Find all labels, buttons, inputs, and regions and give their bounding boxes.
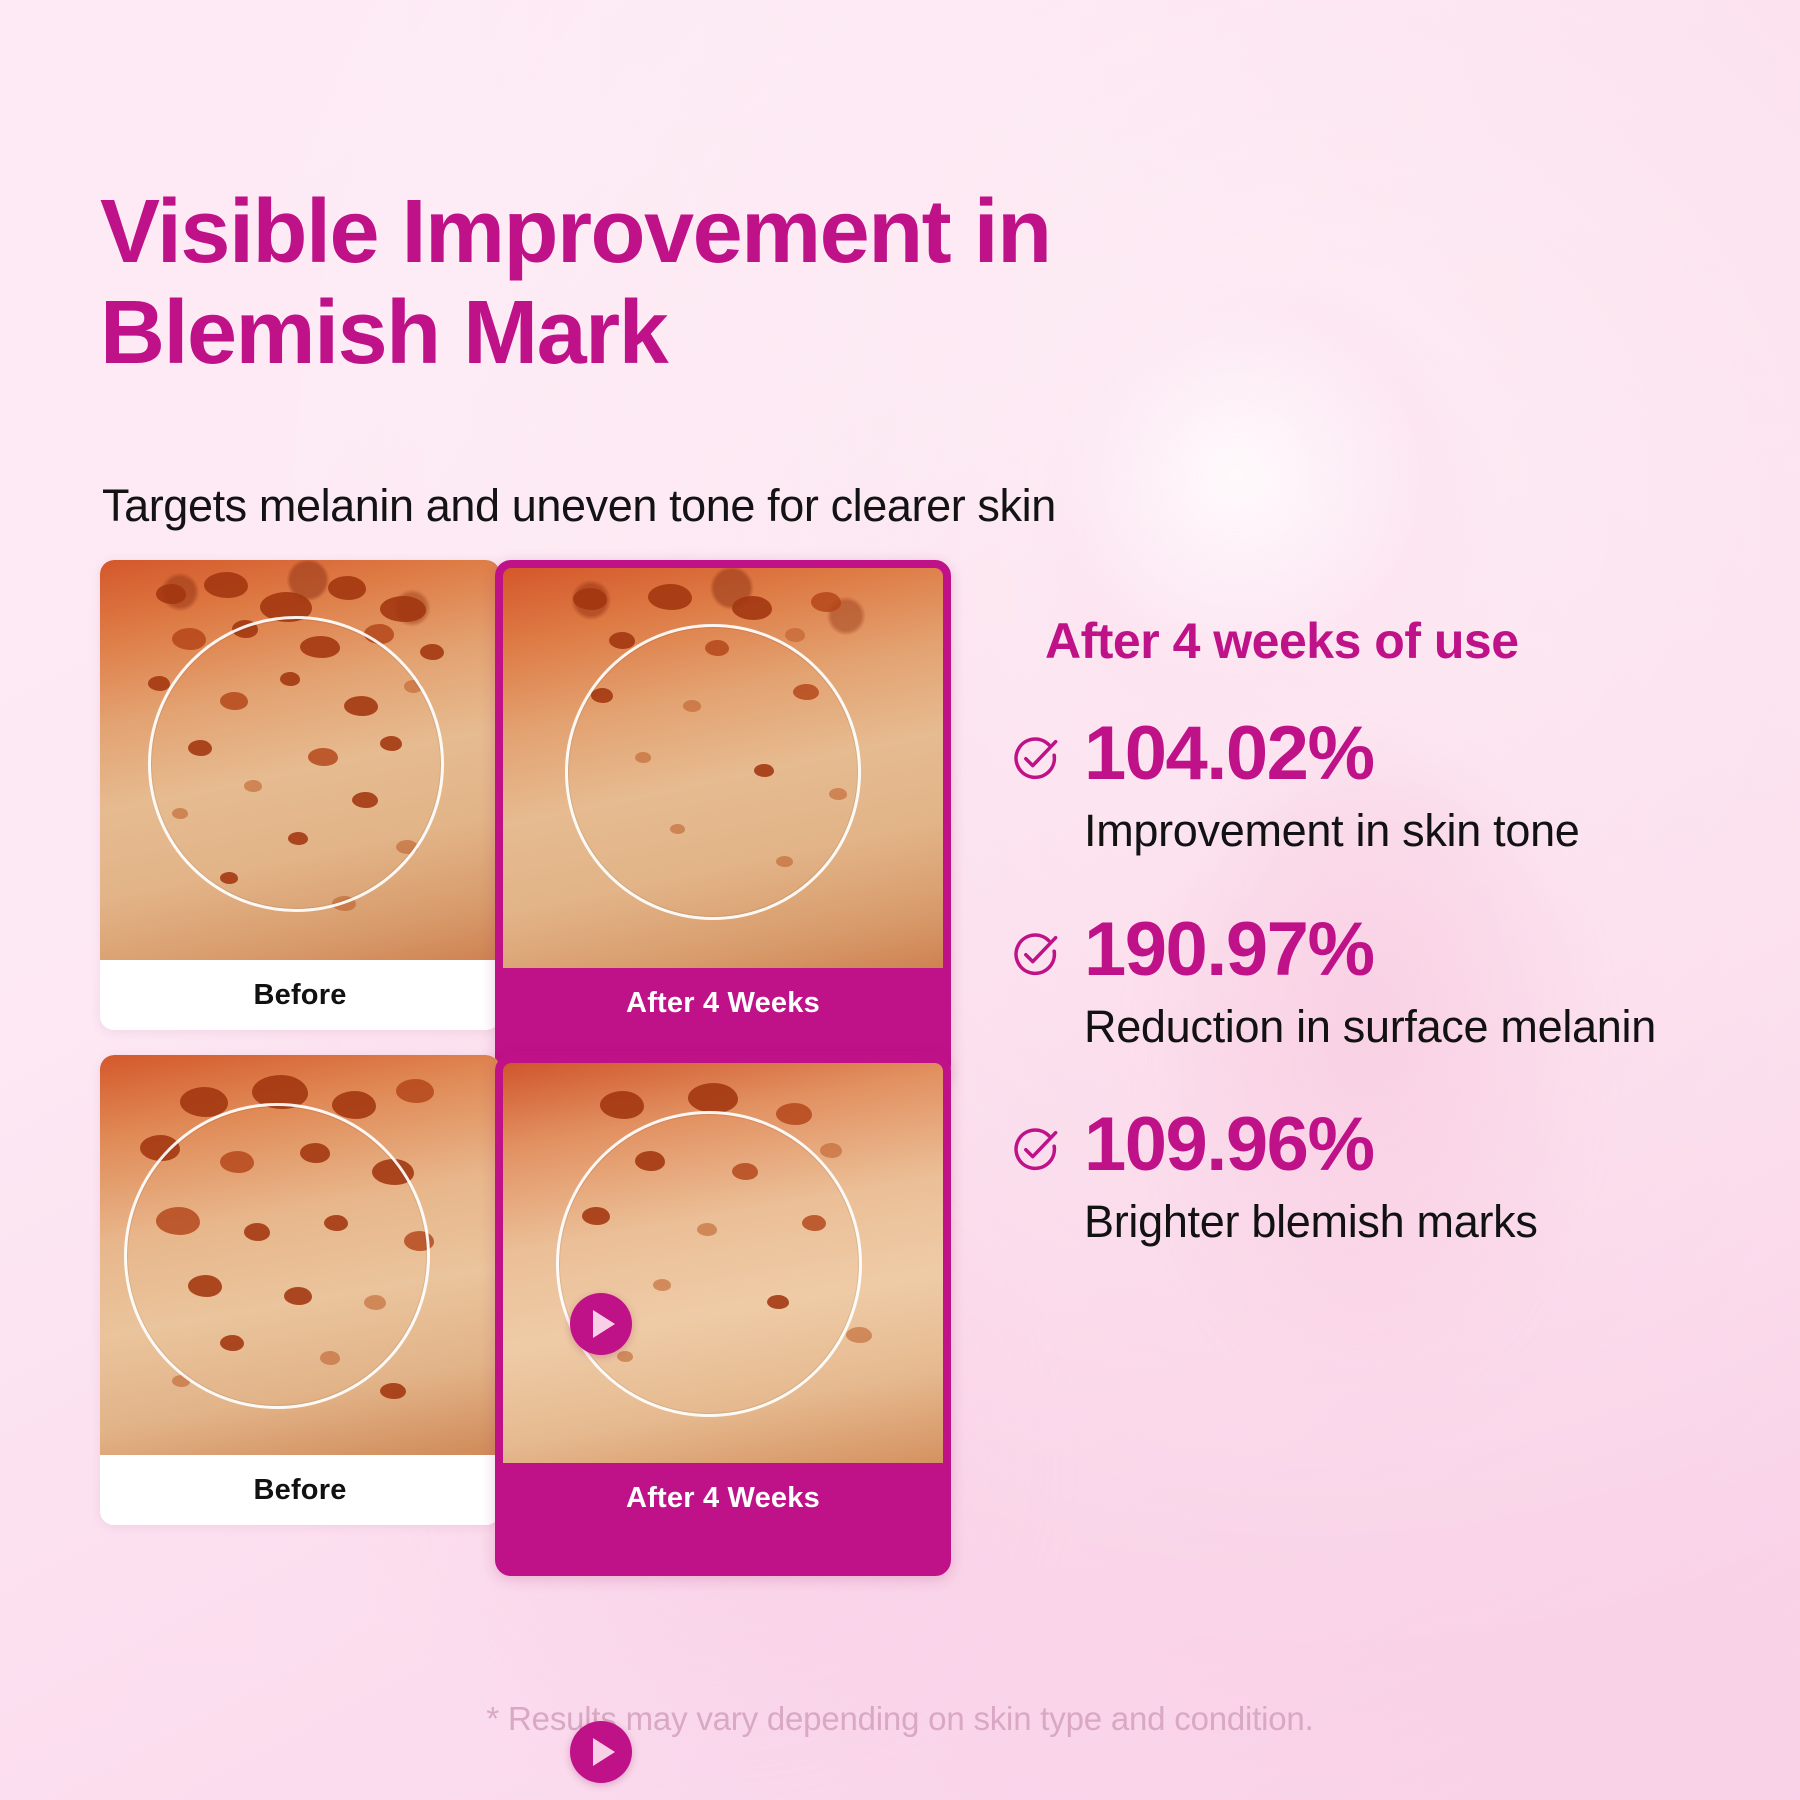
check-circle-icon — [1010, 1125, 1060, 1175]
stat-description: Improvement in skin tone — [1084, 802, 1710, 860]
disclaimer-text: * Results may vary depending on skin typ… — [0, 1700, 1800, 1738]
after-card-2: After 4 Weeks — [495, 1055, 951, 1576]
stat-item: 104.02% Improvement in skin tone — [1010, 716, 1710, 860]
check-circle-icon — [1010, 734, 1060, 784]
results-title: After 4 weeks of use — [1045, 612, 1710, 670]
magnifier-circle — [124, 1103, 430, 1409]
after-label-2: After 4 Weeks — [503, 1463, 943, 1533]
page-title: Visible Improvement in Blemish Mark — [100, 182, 1350, 384]
before-label-2: Before — [100, 1455, 500, 1525]
before-photo-2 — [100, 1055, 500, 1455]
before-card-2: Before — [100, 1055, 500, 1525]
play-arrow-icon — [570, 1721, 632, 1783]
check-circle-icon — [1010, 930, 1060, 980]
before-card-1: Before — [100, 560, 500, 1030]
stat-description: Reduction in surface melanin — [1084, 998, 1710, 1056]
results-panel: After 4 weeks of use 104.02% Improvement… — [1010, 612, 1710, 1251]
stat-value: 190.97% — [1084, 912, 1710, 988]
comparison-row-2: Before — [100, 1055, 960, 1525]
magnifier-circle — [556, 1111, 862, 1417]
before-photo-1 — [100, 560, 500, 960]
magnifier-circle — [148, 616, 444, 912]
stat-value: 104.02% — [1084, 716, 1710, 792]
stat-description: Brighter blemish marks — [1084, 1193, 1710, 1251]
play-arrow-icon — [570, 1293, 632, 1355]
before-label-1: Before — [100, 960, 500, 1030]
after-card-1: After 4 Weeks — [495, 560, 951, 1081]
magnifier-circle — [565, 624, 861, 920]
stat-item: 190.97% Reduction in surface melanin — [1010, 912, 1710, 1056]
stat-item: 109.96% Brighter blemish marks — [1010, 1107, 1710, 1251]
after-photo-2 — [503, 1063, 943, 1463]
infographic-poster: Visible Improvement in Blemish Mark Targ… — [0, 0, 1800, 1800]
page-subtitle: Targets melanin and uneven tone for clea… — [102, 479, 1056, 533]
after-label-1: After 4 Weeks — [503, 968, 943, 1038]
comparison-row-1: Before — [100, 560, 960, 1030]
after-photo-1 — [503, 568, 943, 968]
stat-value: 109.96% — [1084, 1107, 1710, 1183]
